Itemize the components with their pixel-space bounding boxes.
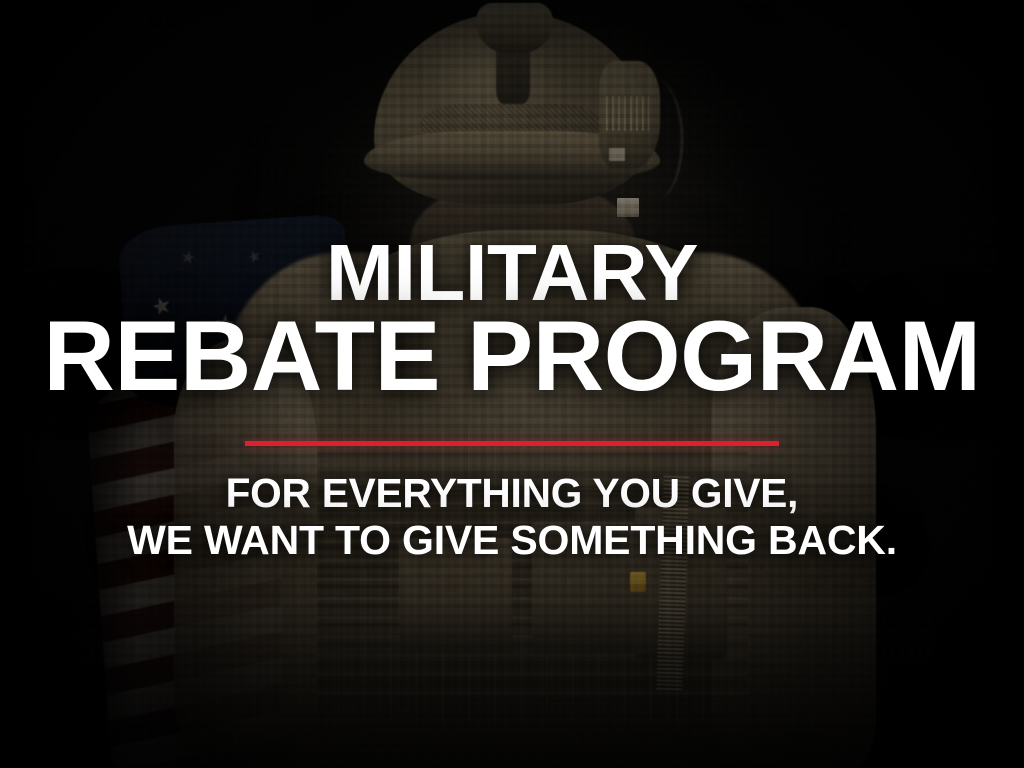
red-divider-rule (245, 441, 779, 446)
subheadline-line-2: WE WANT TO GIVE SOMETHING BACK. (127, 517, 897, 565)
headline-line-2: REBATE PROGRAM (0, 308, 1024, 403)
subheadline: FOR EVERYTHING YOU GIVE, WE WANT TO GIVE… (127, 470, 897, 565)
page-title: MILITARY REBATE PROGRAM (0, 21, 1024, 403)
promo-banner: MILITARY REBATE PROGRAM FOR EVERYTHING Y… (0, 0, 1024, 768)
subheadline-line-1: FOR EVERYTHING YOU GIVE, (131, 470, 893, 518)
banner-copy: MILITARY REBATE PROGRAM FOR EVERYTHING Y… (0, 0, 1024, 768)
